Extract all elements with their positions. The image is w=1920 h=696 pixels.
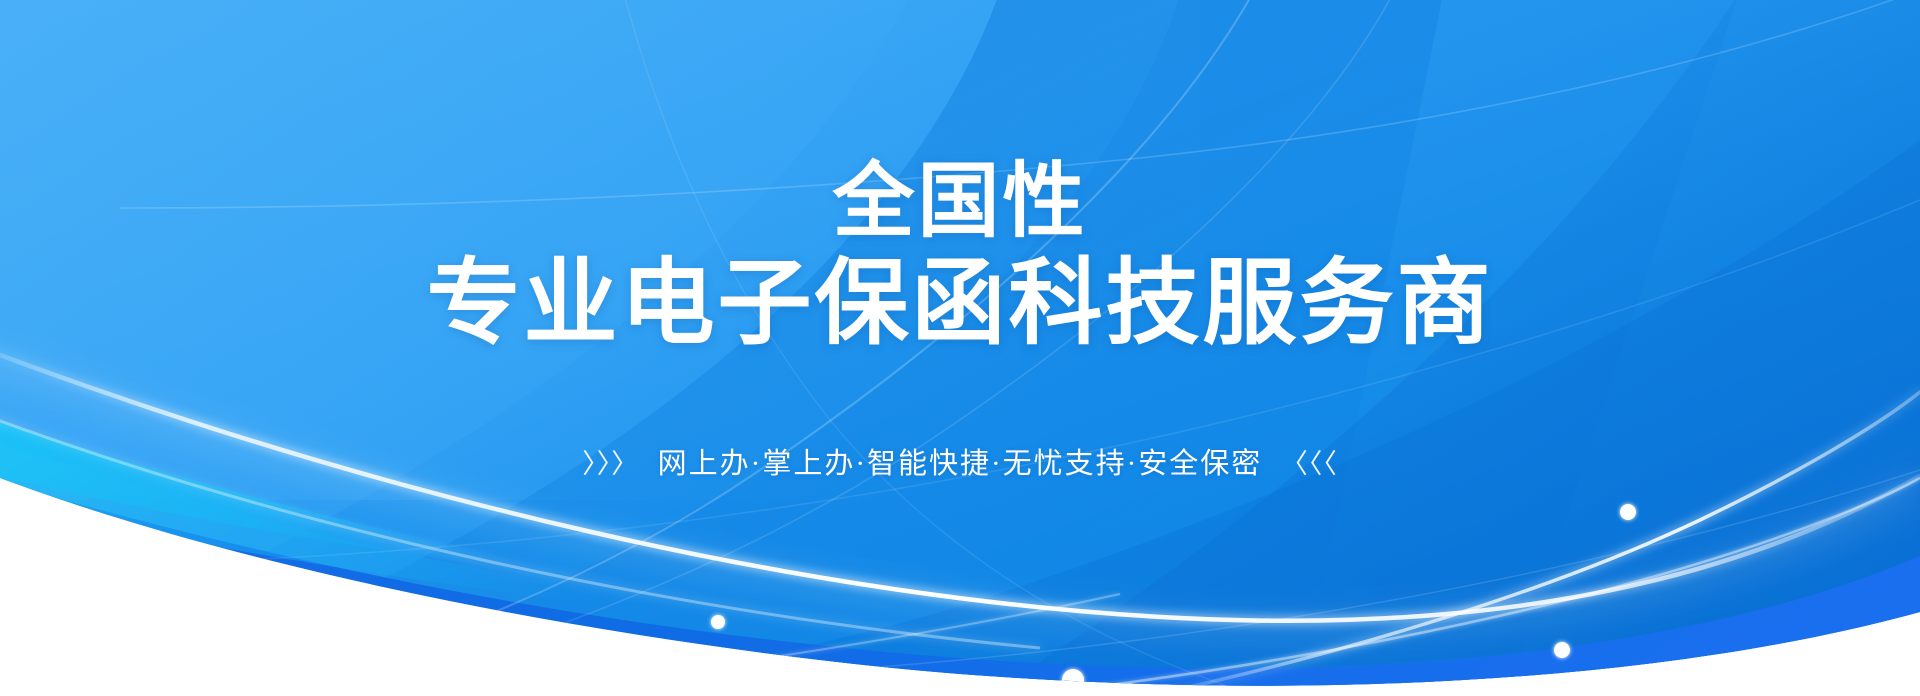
curve-node-dot (1062, 669, 1084, 691)
banner-background-graphic (0, 0, 1920, 696)
curve-node-dot (1620, 504, 1636, 520)
curve-node-dot (711, 615, 725, 629)
curve-node-dot (1554, 642, 1570, 658)
hero-banner: 全国性 专业电子保函科技服务商 〉〉〉 网上办·掌上办·智能快捷·无忧支持·安全… (0, 0, 1920, 696)
banner-shape-group (0, 0, 1920, 696)
